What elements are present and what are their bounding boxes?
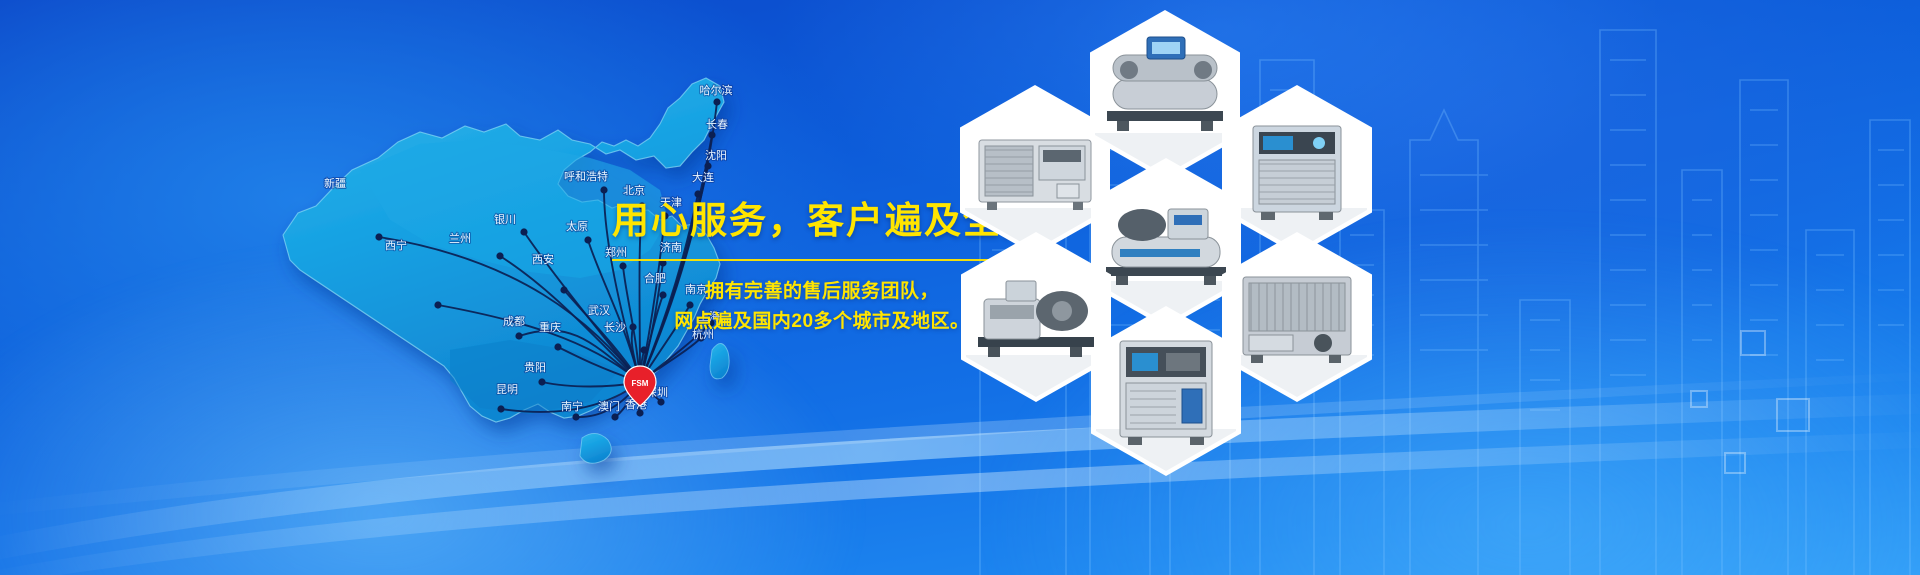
city-dot xyxy=(375,233,382,240)
map-city-marker: 沈阳 xyxy=(704,148,727,170)
product-hex-screw-compressor-unit xyxy=(961,232,1111,402)
city-label: 北京 xyxy=(623,183,645,197)
decorative-square xyxy=(1776,398,1810,432)
map-city-marker: 澳门 xyxy=(598,399,620,421)
product-hexagon-collage xyxy=(960,0,1520,575)
city-dot xyxy=(708,131,715,138)
product-image-cabinet-type-chiller xyxy=(1096,311,1236,471)
city-dot xyxy=(515,332,522,339)
city-dot xyxy=(497,405,504,412)
city-label: 澳门 xyxy=(598,399,620,413)
city-label: 长春 xyxy=(706,118,728,131)
city-label: 大连 xyxy=(692,170,714,184)
decorative-square xyxy=(1724,452,1746,474)
city-dot xyxy=(640,346,647,353)
product-hex-water-cooled-compressor-set xyxy=(1091,158,1241,328)
city-label: 太原 xyxy=(566,220,588,233)
product-illustration xyxy=(1095,15,1235,175)
city-dot xyxy=(600,186,607,193)
city-label: 重庆 xyxy=(539,320,561,334)
product-hex-air-cooled-condensing-unit xyxy=(960,85,1110,255)
product-illustration xyxy=(1227,90,1367,250)
city-label: 昆明 xyxy=(496,383,518,396)
city-label: 西安 xyxy=(532,252,554,266)
product-hex-industrial-box-chiller xyxy=(1222,85,1372,255)
city-dot xyxy=(611,413,618,420)
city-dot xyxy=(538,378,545,385)
city-label: 贵阳 xyxy=(524,361,546,374)
city-label: 哈尔滨 xyxy=(700,83,733,97)
hub-marker-label: FSM xyxy=(632,379,649,388)
city-dot xyxy=(496,252,503,259)
city-label: 武汉 xyxy=(588,304,610,317)
city-dot xyxy=(713,98,720,105)
product-illustration xyxy=(965,90,1105,250)
china-map: 哈尔滨长春沈阳大连北京天津呼和浩特银川太原郑州济南新疆兰州西宁西安合肥南京上海杭… xyxy=(120,20,680,440)
product-image-water-cooled-compressor-set xyxy=(1096,163,1236,323)
city-label: 呼和浩特 xyxy=(564,169,608,183)
decorative-square xyxy=(1690,390,1708,408)
city-label: 成都 xyxy=(503,315,525,328)
product-image-industrial-box-chiller xyxy=(1227,90,1367,250)
city-dot xyxy=(657,398,664,405)
map-city-marker: 大连 xyxy=(692,170,714,198)
city-label: 兰州 xyxy=(449,232,471,245)
city-label: 银川 xyxy=(494,212,516,226)
city-label: 新疆 xyxy=(324,176,346,190)
product-image-water-cooled-screw-chiller xyxy=(1095,15,1235,175)
city-label: 西宁 xyxy=(385,238,407,252)
city-dot xyxy=(584,236,591,243)
city-dot xyxy=(554,343,561,350)
product-illustration xyxy=(1096,311,1236,471)
product-image-air-cooled-heat-exchanger xyxy=(1227,237,1367,397)
city-dot xyxy=(694,190,701,197)
map-city-marker: 长春 xyxy=(706,118,728,139)
product-illustration xyxy=(1096,163,1236,323)
city-dot xyxy=(520,228,527,235)
city-dot xyxy=(572,413,579,420)
product-image-screw-compressor-unit xyxy=(966,237,1106,397)
service-network-banner: 哈尔滨长春沈阳大连北京天津呼和浩特银川太原郑州济南新疆兰州西宁西安合肥南京上海杭… xyxy=(0,0,1920,575)
city-label: 沈阳 xyxy=(705,148,727,162)
product-image-air-cooled-condensing-unit xyxy=(965,90,1105,250)
decorative-square xyxy=(1740,330,1766,356)
city-dot xyxy=(434,301,441,308)
city-dot xyxy=(560,286,567,293)
product-hex-cabinet-type-chiller xyxy=(1091,306,1241,476)
product-hex-water-cooled-screw-chiller xyxy=(1090,10,1240,180)
product-illustration xyxy=(1227,237,1367,397)
city-label: 南宁 xyxy=(561,399,583,413)
product-hex-air-cooled-heat-exchanger xyxy=(1222,232,1372,402)
city-dot xyxy=(704,162,711,169)
product-illustration xyxy=(966,237,1106,397)
